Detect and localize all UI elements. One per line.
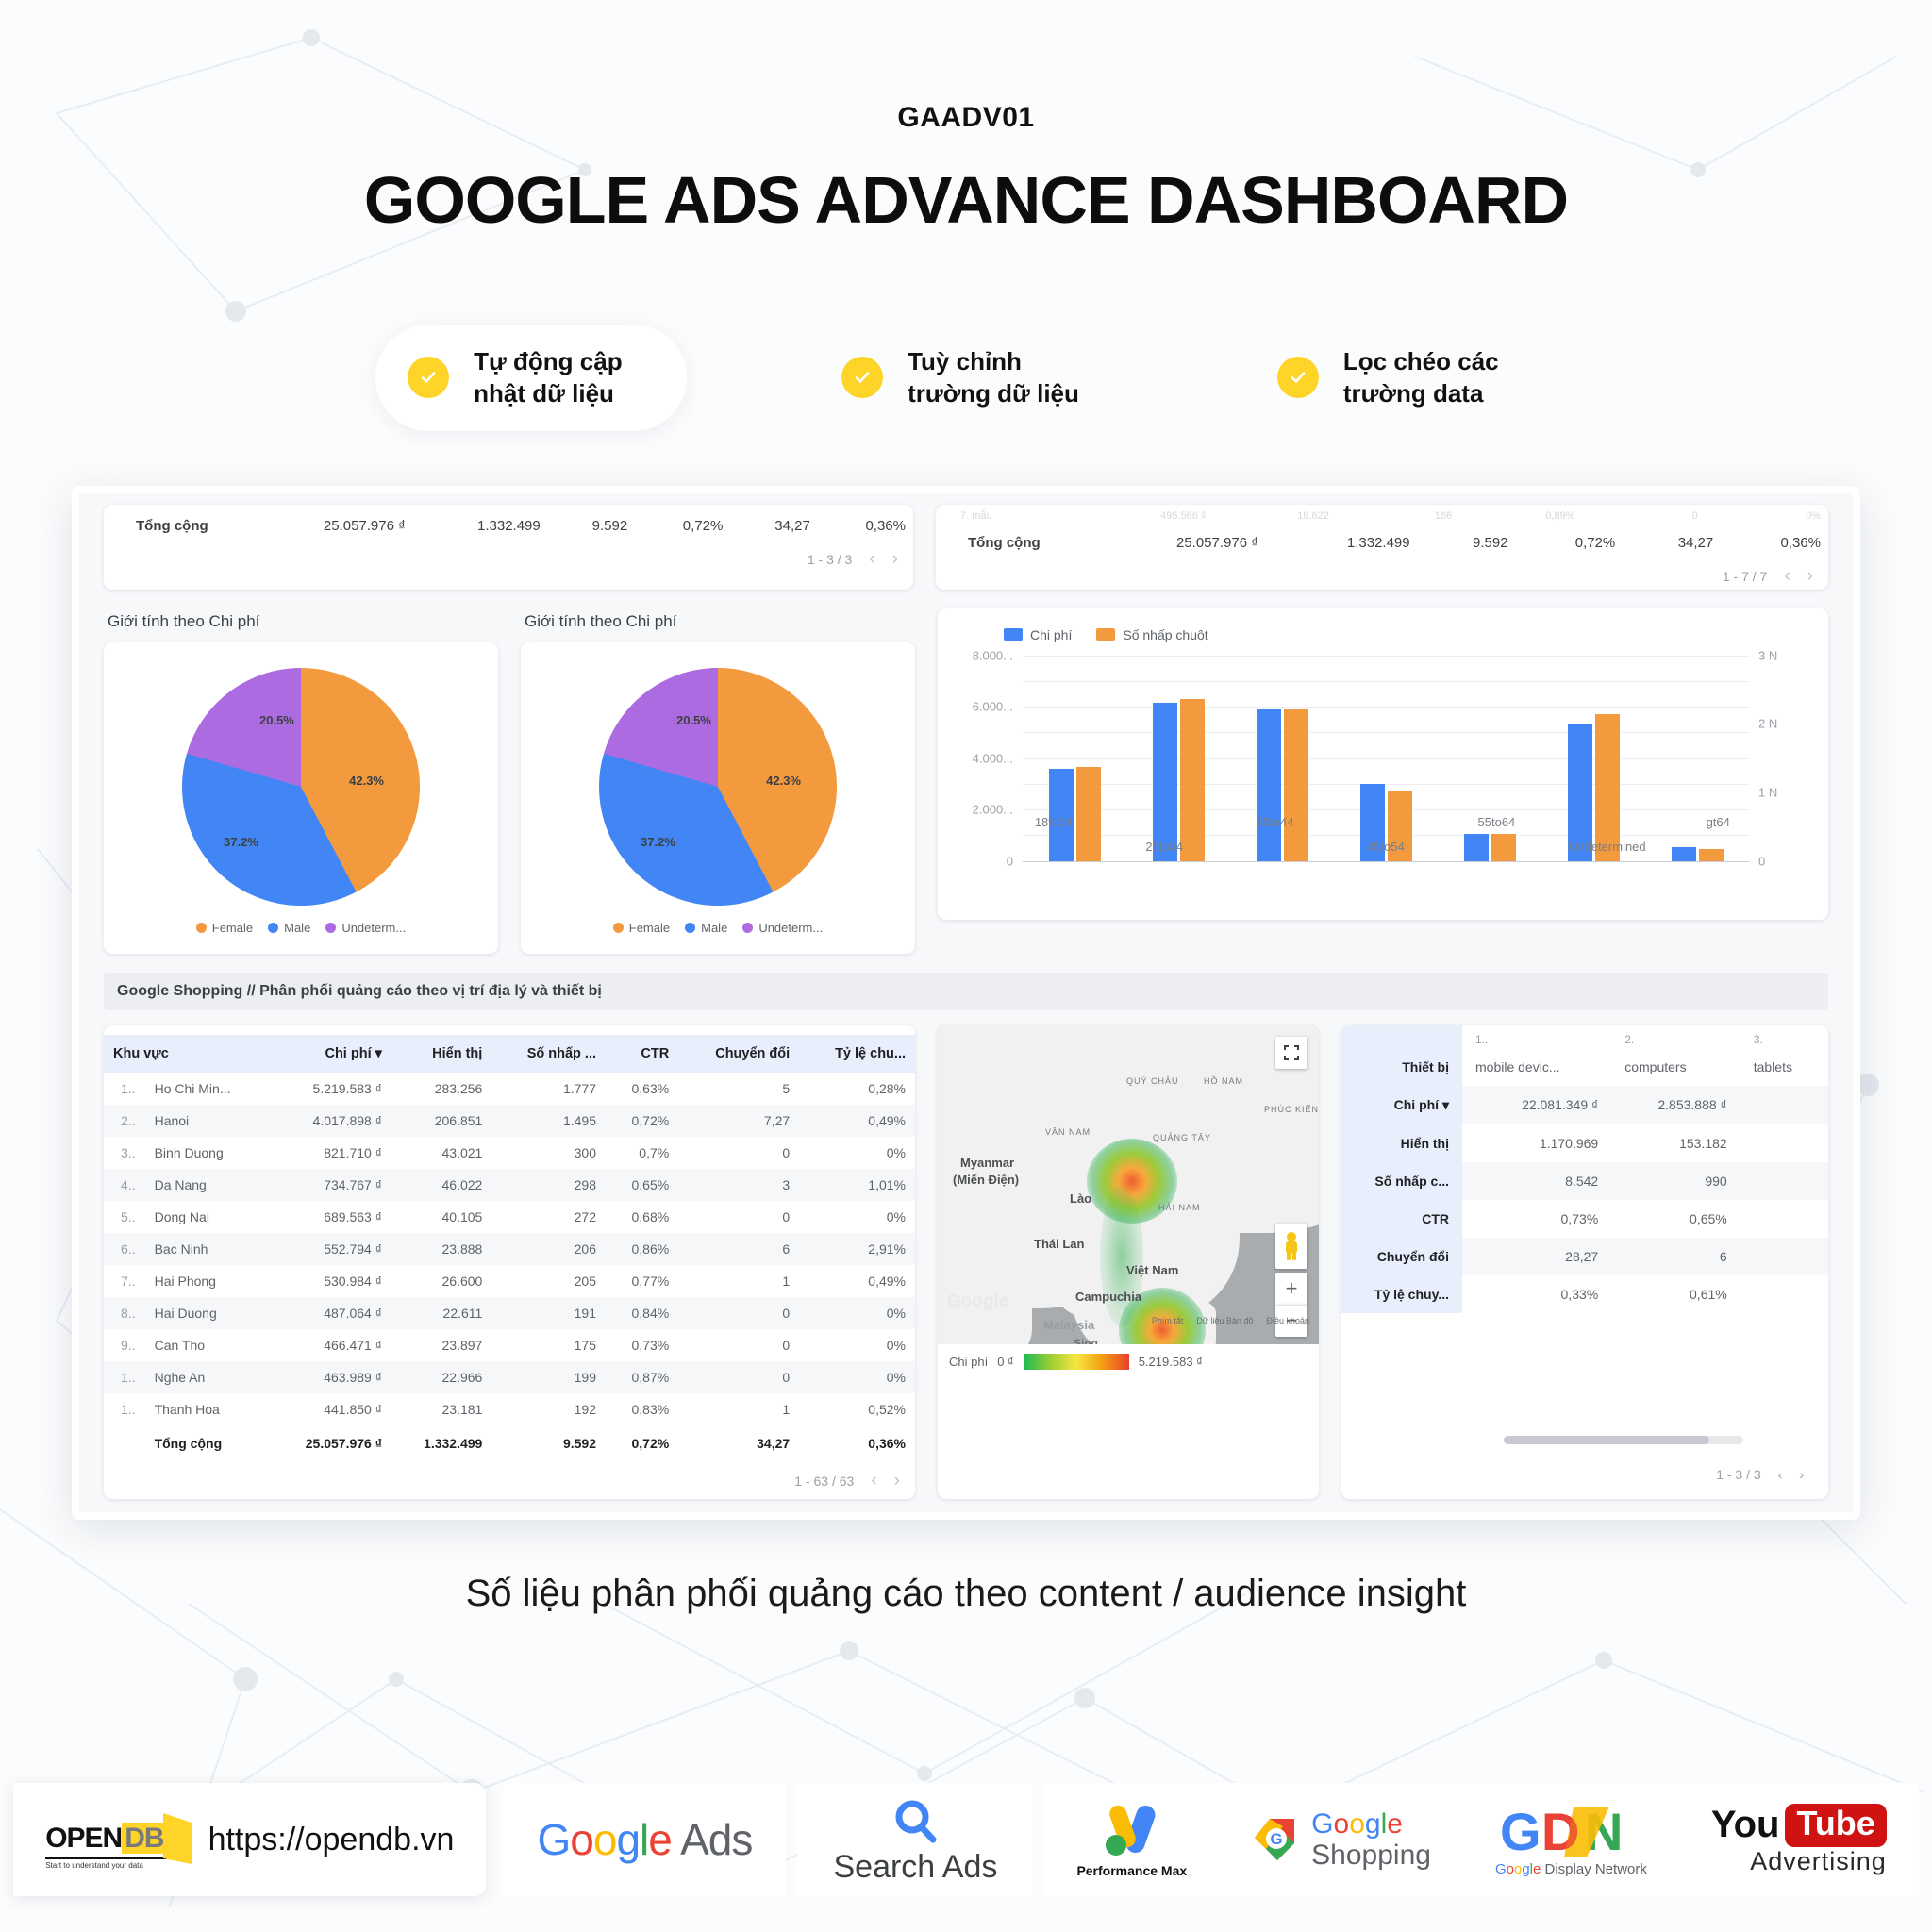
table-row[interactable]: 9..Can Tho466.471 ₫23.8971750,73%00% (104, 1329, 915, 1361)
col-number-2: 2. (1611, 1025, 1740, 1048)
cell-clicks: 298 (491, 1169, 606, 1201)
cell-ctr: 0,84% (606, 1297, 678, 1329)
cell-ctr: 0,63% (606, 1073, 678, 1105)
ghost-cell: 7. mẫu (960, 510, 1083, 522)
row-index: 1.. (104, 1073, 145, 1105)
table-total-row: Tổng cộng 25.057.976 ₫ 1.332.499 9.592 0… (104, 1425, 915, 1459)
row-label-ctr[interactable]: CTR (1341, 1200, 1462, 1238)
search-ads-label: Search Ads (833, 1849, 997, 1886)
pagination-label: 1 - 7 / 7 (1723, 569, 1767, 584)
performance-max-icon (1099, 1801, 1165, 1859)
check-icon (1277, 357, 1319, 398)
cell-region: Da Nang (145, 1169, 269, 1201)
row-label-conversions[interactable]: Chuyển đổi (1341, 1238, 1462, 1275)
cell-clicks: 1.495 (491, 1105, 606, 1137)
cell-region: Dong Nai (145, 1201, 269, 1233)
prev-page-icon[interactable]: ‹ (869, 549, 874, 570)
page-header: GAADV01 GOOGLE ADS ADVANCE DASHBOARD (0, 0, 1932, 238)
logo-google-shopping[interactable]: G Google Shopping (1219, 1783, 1463, 1896)
cell-ctr: 0,72% (606, 1105, 678, 1137)
pagination-left[interactable]: 1 - 3 / 3 ‹ › (104, 547, 913, 577)
cell-impressions-tablets (1740, 1124, 1828, 1162)
map-link-shortcuts[interactable]: Phím tắt (1152, 1316, 1184, 1325)
legend-item-clicks[interactable]: Số nhấp chuột (1096, 627, 1207, 642)
cell-impressions-computers: 153.182 (1611, 1124, 1740, 1162)
cell-conv-rate-computers: 0,61% (1611, 1275, 1740, 1313)
horizontal-scrollbar[interactable] (1504, 1436, 1743, 1444)
col-header-cost[interactable]: Chi phí ▾ (268, 1035, 391, 1073)
section-header-shopping: Google Shopping // Phân phối quảng cáo t… (104, 973, 1828, 1010)
ghost-cell: 495.566 ₫ (1083, 510, 1206, 522)
y-axis-left-tick: 4.000... (973, 751, 1013, 765)
pie-chart-2[interactable]: Giới tính theo Chi phí 42.3% 37.2% 20.5%… (521, 608, 915, 954)
legend-label: Undeterm... (758, 921, 823, 935)
total-impressions: 1.332.499 (413, 505, 548, 547)
next-page-icon[interactable]: › (1807, 566, 1813, 587)
row-index: 3.. (104, 1137, 145, 1169)
pie-chart-card[interactable]: 42.3% 37.2% 20.5% Female Male Undeterm..… (104, 642, 498, 954)
x-tick-35to44: 35to44 (1220, 815, 1330, 854)
cell-conv-rate: 2,91% (799, 1233, 915, 1265)
pie-chart-card[interactable]: 42.3% 37.2% 20.5% Female Male Undeterm..… (521, 642, 915, 954)
row-index: 7.. (104, 1265, 145, 1297)
prev-page-icon[interactable]: ‹ (1784, 566, 1790, 587)
dashboard-canvas[interactable]: Tổng cộng 25.057.976 ₫ 1.332.499 9.592 0… (79, 493, 1853, 1512)
row-index: 6.. (104, 1233, 145, 1265)
cell-impressions: 23.888 (391, 1233, 491, 1265)
cell-cost: 530.984 ₫ (268, 1265, 391, 1297)
legend-swatch-female (613, 923, 624, 933)
y-axis-right-tick: 2 N (1758, 717, 1777, 731)
ghost-cell: 0,89% (1452, 510, 1574, 522)
map-label-fujian: PHÚC KIẾN (1264, 1105, 1319, 1114)
badge-label: Tuỳ chỉnh trường dữ liệu (908, 345, 1079, 410)
table-row[interactable]: 2..Hanoi4.017.898 ₫206.8511.4950,72%7,27… (104, 1105, 915, 1137)
cell-cost: 552.794 ₫ (268, 1233, 391, 1265)
cell-impressions-mobile: 1.170.969 (1462, 1124, 1611, 1162)
badge-label: Lọc chéo các trường data (1343, 345, 1499, 410)
device-pagination[interactable]: 1 - 3 / 3 ‹ › (1716, 1467, 1804, 1482)
row-index: 1.. (104, 1361, 145, 1393)
total-conv-rate: 0,36% (799, 1425, 915, 1459)
legend-item-female[interactable]: Female (196, 921, 253, 935)
cell-region: Can Tho (145, 1329, 269, 1361)
legend-swatch-female (196, 923, 207, 933)
total-ctr: 0,72% (606, 1425, 678, 1459)
map-label-hunan: HỒ NAM (1204, 1076, 1243, 1086)
table-row[interactable]: Thiết bị mobile devic... computers table… (1341, 1048, 1828, 1086)
geo-table-body: 1..Ho Chi Min...5.219.583 ₫283.2561.7770… (104, 1073, 915, 1459)
map-label-thailand: Thái Lan (1034, 1237, 1084, 1251)
legend-label: Số nhấp chuột (1123, 627, 1207, 642)
cell-conversions: 7,27 (678, 1105, 799, 1137)
cell-cost-mobile: 22.081.349 ₫ (1462, 1086, 1611, 1124)
cell-device-mobile: mobile devic... (1462, 1048, 1611, 1086)
opendb-tagline: Start to understand your data (45, 1861, 166, 1870)
map-color-legend: Chi phí 0 ₫ 5.219.583 ₫ (938, 1344, 1319, 1379)
cell-ctr: 0,65% (606, 1169, 678, 1201)
cell-conv-rate: 0,49% (799, 1105, 915, 1137)
cell-conversions: 1 (678, 1393, 799, 1425)
col-header-impressions[interactable]: Hiển thị (391, 1035, 491, 1073)
total-conv-rate: 0,36% (1721, 522, 1828, 564)
pie-legend: Female Male Undeterm... (196, 921, 406, 935)
google-watermark: Google (947, 1291, 1008, 1312)
pagination-label: 1 - 3 / 3 (808, 552, 852, 567)
y-axis-right-tick: 1 N (1758, 785, 1777, 799)
charts-row: Giới tính theo Chi phí 42.3% 37.2% 20.5%… (104, 608, 1828, 954)
row-index: 1.. (104, 1393, 145, 1425)
col-number-3: 3. (1740, 1025, 1828, 1048)
youtube-tube-text: Tube (1785, 1804, 1886, 1847)
opendb-url[interactable]: https://opendb.vn (208, 1822, 455, 1858)
legend-swatch-male (268, 923, 278, 933)
total-label: Tổng cộng (104, 505, 245, 547)
svg-text:G: G (1271, 1830, 1283, 1848)
cell-ctr: 0,87% (606, 1361, 678, 1393)
table-row[interactable]: 4..Da Nang734.767 ₫46.0222980,65%31,01% (104, 1169, 915, 1201)
legend-item-undetermined[interactable]: Undeterm... (742, 921, 823, 935)
table-row[interactable]: Số nhấp c... 8.542 990 (1341, 1162, 1828, 1200)
map-label-myanmar: Myanmar (960, 1156, 1014, 1170)
cell-clicks: 1.777 (491, 1073, 606, 1105)
cell-impressions: 23.181 (391, 1393, 491, 1425)
geo-table-card[interactable]: Khu vực Chi phí ▾ Hiển thị Số nhấp ... C… (104, 1025, 915, 1499)
fullscreen-icon[interactable] (1275, 1037, 1307, 1069)
cell-cost: 5.219.583 ₫ (268, 1073, 391, 1105)
cell-conversions-computers: 6 (1611, 1238, 1740, 1275)
cell-conv-rate: 0% (799, 1329, 915, 1361)
cell-conv-rate: 0% (799, 1361, 915, 1393)
cell-region: Bac Ninh (145, 1233, 269, 1265)
cell-clicks-tablets (1740, 1162, 1828, 1200)
total-conversions: 34,27 (1623, 522, 1721, 564)
device-table-card[interactable]: 1.. 2. 3. Thiết bị mobile devic... compu… (1341, 1025, 1828, 1499)
map-viewport[interactable]: Myanmar (Miến Điện) Lào Thái Lan Việt Na… (938, 1025, 1319, 1344)
feature-badges: Tự động cập nhật dữ liệu Tuỳ chỉnh trườn… (0, 325, 1932, 431)
legend-item-female[interactable]: Female (613, 921, 670, 935)
prev-page-icon[interactable]: ‹ (871, 1471, 876, 1491)
col-header-conv-rate[interactable]: Tỷ lệ chu... (799, 1035, 915, 1073)
col-header-ctr[interactable]: CTR (606, 1035, 678, 1073)
table-row[interactable]: 1..Thanh Hoa441.850 ₫23.1811920,83%10,52… (104, 1393, 915, 1425)
table-row[interactable]: Hiển thị 1.170.969 153.182 (1341, 1124, 1828, 1162)
google-shopping-tag-icon: G (1251, 1814, 1302, 1865)
heatmap-coast (1100, 1186, 1143, 1327)
x-axis-labels: 18to24 25to34 35to44 45to54 55to64 Undet… (998, 815, 1774, 854)
col-header-conversions[interactable]: Chuyển đổi (678, 1035, 799, 1073)
google-shopping-word-shopping: Shopping (1311, 1840, 1431, 1871)
legend-label: Male (701, 921, 727, 935)
cell-ctr-tablets (1740, 1200, 1828, 1238)
cell-impressions: 22.611 (391, 1297, 491, 1329)
pie-slice-label-undetermined: 20.5% (676, 713, 711, 727)
pagination-label: 1 - 3 / 3 (1716, 1467, 1760, 1482)
geo-table: Khu vực Chi phí ▾ Hiển thị Số nhấp ... C… (104, 1035, 915, 1459)
cell-conv-rate: 0% (799, 1137, 915, 1169)
search-icon (888, 1794, 942, 1849)
logo-gdn[interactable]: G D N D Google Display Network (1463, 1783, 1679, 1896)
cell-clicks: 205 (491, 1265, 606, 1297)
legend-item-male[interactable]: Male (685, 921, 727, 935)
cell-conv-rate: 1,01% (799, 1169, 915, 1201)
legend-swatch-clicks (1096, 628, 1115, 641)
pagination-label: 1 - 63 / 63 (794, 1474, 854, 1489)
map-label-guizhou: QUÝ CHÂU (1126, 1076, 1179, 1086)
summary-table-left: Tổng cộng 25.057.976 ₫ 1.332.499 9.592 0… (104, 505, 913, 547)
cell-cost: 466.471 ₫ (268, 1329, 391, 1361)
gdn-sub-display-network: Display Network (1545, 1861, 1647, 1877)
gdn-icon: G D N D (1500, 1803, 1641, 1861)
gdn-sub-google: Google (1495, 1861, 1541, 1877)
cell-conv-rate: 0,52% (799, 1393, 915, 1425)
table-row[interactable]: 6..Bac Ninh552.794 ₫23.8882060,86%62,91% (104, 1233, 915, 1265)
table-row[interactable]: 5..Dong Nai689.563 ₫40.1052720,68%00% (104, 1201, 915, 1233)
total-clicks: 9.592 (1418, 522, 1516, 564)
map-label-myanmar-alt: (Miến Điện) (953, 1173, 1019, 1187)
google-ads-wordmark: Google Ads (537, 1814, 752, 1865)
map-label-laos: Lào (1070, 1191, 1091, 1206)
row-label-clicks[interactable]: Số nhấp c... (1341, 1162, 1462, 1200)
summary-card-left[interactable]: Tổng cộng 25.057.976 ₫ 1.332.499 9.592 0… (104, 505, 913, 590)
cell-conv-rate: 0% (799, 1201, 915, 1233)
map-label-guangxi: QUẢNG TÂY (1153, 1133, 1211, 1142)
table-row[interactable]: 7..Hai Phong530.984 ₫26.6002050,77%10,49… (104, 1265, 915, 1297)
table-row[interactable]: 3..Binh Duong821.710 ₫43.0213000,7%00% (104, 1137, 915, 1169)
map-footer-links: Phím tắt Dữ liệu Bản đồ Điều khoản (938, 1316, 1319, 1325)
logo-google-ads[interactable]: Google Ads (503, 1783, 786, 1896)
next-page-icon[interactable]: › (1799, 1467, 1804, 1482)
cell-cost-tablets (1740, 1086, 1828, 1124)
x-tick-55to64: 55to64 (1441, 815, 1552, 854)
legend-item-cost[interactable]: Chi phí (1004, 627, 1072, 642)
logo-performance-max[interactable]: Performance Max (1044, 1783, 1219, 1896)
cell-clicks: 206 (491, 1233, 606, 1265)
table-row[interactable]: 1..Nghe An463.989 ₫22.9661990,87%00% (104, 1361, 915, 1393)
x-tick-45to54: 45to54 (1330, 815, 1441, 854)
total-ctr: 0,72% (1516, 522, 1624, 564)
cell-impressions: 43.021 (391, 1137, 491, 1169)
cell-impressions: 26.600 (391, 1265, 491, 1297)
cell-conversions: 0 (678, 1297, 799, 1329)
cell-conv-rate-tablets (1740, 1275, 1828, 1313)
geo-heatmap-card[interactable]: Myanmar (Miến Điện) Lào Thái Lan Việt Na… (938, 1025, 1319, 1499)
footer-caption: Số liệu phân phối quảng cáo theo content… (0, 1573, 1932, 1615)
map-link-mapdata[interactable]: Dữ liệu Bản đồ (1196, 1316, 1253, 1325)
dashboard-code: GAADV01 (0, 102, 1932, 134)
cell-conversions: 3 (678, 1169, 799, 1201)
table-row[interactable]: 8..Hai Duong487.064 ₫22.6111910,84%00% (104, 1297, 915, 1329)
table-row[interactable]: 1..Ho Chi Min...5.219.583 ₫283.2561.7770… (104, 1073, 915, 1105)
scrollbar-thumb[interactable] (1504, 1436, 1709, 1444)
row-label-conv-rate[interactable]: Tỷ lệ chuy... (1341, 1275, 1462, 1313)
cell-cost: 463.989 ₫ (268, 1361, 391, 1393)
partner-logo-bar: OPENDB Start to understand your data htt… (0, 1783, 1932, 1896)
x-tick-undetermined: Undetermined (1552, 815, 1662, 854)
total-ctr: 0,72% (635, 505, 730, 547)
row-index: 5.. (104, 1201, 145, 1233)
pie-chart-1[interactable]: Giới tính theo Chi phí 42.3% 37.2% 20.5%… (104, 608, 498, 954)
pie-slice-label-female: 42.3% (766, 774, 801, 788)
badge-custom-fields: Tuỳ chỉnh trường dữ liệu (809, 325, 1123, 431)
legend-item-undetermined[interactable]: Undeterm... (325, 921, 406, 935)
cell-conversions: 1 (678, 1265, 799, 1297)
total-label: Tổng cộng (936, 522, 1077, 564)
next-page-icon[interactable]: › (894, 1471, 900, 1491)
legend-max-value: 5.219.583 ₫ (1139, 1355, 1203, 1369)
row-index: 2.. (104, 1105, 145, 1137)
col-header-region[interactable]: Khu vực (104, 1035, 268, 1073)
ghost-cell: 0 (1574, 510, 1697, 522)
opendb-open-text: OPEN (45, 1823, 122, 1854)
logo-search-ads[interactable]: Search Ads (797, 1783, 1033, 1896)
legend-swatch-male (685, 923, 695, 933)
pie-chart-title: Giới tính theo Chi phí (521, 608, 915, 642)
map-label-singapore: Sing (1074, 1337, 1098, 1344)
logo-opendb[interactable]: OPENDB Start to understand your data htt… (13, 1783, 486, 1896)
cell-ctr-mobile: 0,73% (1462, 1200, 1611, 1238)
pie-slice-label-male: 37.2% (224, 835, 258, 849)
legend-label: Male (284, 921, 310, 935)
cell-conversions: 0 (678, 1201, 799, 1233)
badge-line-2: trường data (1343, 377, 1499, 409)
table-row[interactable]: Chi phí ▾ 22.081.349 ₫ 2.853.888 ₫ (1341, 1086, 1828, 1124)
cell-ctr: 0,77% (606, 1265, 678, 1297)
x-tick-gt64: gt64 (1663, 815, 1774, 854)
cell-region: Hanoi (145, 1105, 269, 1137)
pie-slice-label-female: 42.3% (349, 774, 384, 788)
svg-text:D: D (1541, 1803, 1579, 1861)
map-label-hainan: HẢI NAM (1158, 1203, 1201, 1212)
summary-table-right: Tổng cộng 25.057.976 ₫ 1.332.499 9.592 0… (936, 522, 1828, 564)
cell-clicks: 300 (491, 1137, 606, 1169)
y-axis-right-tick: 3 N (1758, 648, 1777, 662)
table-row: Tổng cộng 25.057.976 ₫ 1.332.499 9.592 0… (936, 522, 1828, 564)
x-tick-25to34: 25to34 (1108, 815, 1219, 854)
x-tick-18to24: 18to24 (998, 815, 1108, 854)
legend-label: Chi phí (1030, 627, 1072, 642)
logo-youtube-advertising[interactable]: You Tube Advertising (1679, 1783, 1919, 1896)
legend-metric-label: Chi phí (949, 1355, 988, 1369)
map-label-vietnam: Việt Nam (1126, 1263, 1178, 1277)
total-label: Tổng cộng (145, 1425, 269, 1459)
ghost-cell: 18.622 (1207, 510, 1329, 522)
pagination-right[interactable]: 1 - 7 / 7 ‹ › (936, 564, 1828, 590)
total-cost: 25.057.976 ₫ (268, 1425, 391, 1459)
legend-gradient-bar (1024, 1354, 1129, 1370)
badge-line-1: Tự động cập (474, 345, 623, 377)
youtube-advertising-label: Advertising (1750, 1847, 1887, 1876)
table-header-row: 1.. 2. 3. (1341, 1025, 1828, 1048)
cell-conversions-tablets (1740, 1238, 1828, 1275)
partial-row-above: 7. mẫu 495.566 ₫ 18.622 166 0,89% 0 0% (936, 505, 1828, 522)
next-page-icon[interactable]: › (892, 549, 898, 570)
legend-label: Undeterm... (341, 921, 406, 935)
badge-line-1: Tuỳ chỉnh (908, 345, 1079, 377)
cell-conversions-mobile: 28,27 (1462, 1238, 1611, 1275)
summary-card-right[interactable]: 7. mẫu 495.566 ₫ 18.622 166 0,89% 0 0% T… (936, 505, 1828, 590)
col-number-1: 1.. (1462, 1025, 1611, 1048)
legend-min-value: 0 ₫ (997, 1355, 1014, 1369)
opendb-door-icon (163, 1809, 195, 1870)
total-cost: 25.057.976 ₫ (1077, 522, 1266, 564)
cell-region: Binh Duong (145, 1137, 269, 1169)
cell-impressions: 22.966 (391, 1361, 491, 1393)
page-title: GOOGLE ADS ADVANCE DASHBOARD (0, 162, 1932, 238)
cell-region: Ho Chi Min... (145, 1073, 269, 1105)
table-row: Tổng cộng 25.057.976 ₫ 1.332.499 9.592 0… (104, 505, 913, 547)
cell-ctr: 0,86% (606, 1233, 678, 1265)
cell-clicks: 199 (491, 1361, 606, 1393)
google-shopping-word-google: Google (1311, 1808, 1431, 1840)
gdn-subtitle: Google Display Network (1495, 1861, 1647, 1877)
badge-auto-update: Tự động cập nhật dữ liệu (375, 325, 687, 431)
cell-impressions: 40.105 (391, 1201, 491, 1233)
opendb-db-text: DB (122, 1823, 166, 1854)
legend-swatch-undetermined (325, 923, 336, 933)
row-label-impressions[interactable]: Hiển thị (1341, 1124, 1462, 1162)
map-link-terms[interactable]: Điều khoản (1266, 1316, 1309, 1325)
legend-swatch-undetermined (742, 923, 753, 933)
table-row[interactable]: Tỷ lệ chuy... 0,33% 0,61% (1341, 1275, 1828, 1313)
total-conv-rate: 0,36% (818, 505, 913, 547)
cell-cost: 689.563 ₫ (268, 1201, 391, 1233)
cell-conv-rate: 0,28% (799, 1073, 915, 1105)
ghost-cell: 0% (1698, 510, 1821, 522)
col-header-clicks[interactable]: Số nhấp ... (491, 1035, 606, 1073)
cell-conv-rate: 0% (799, 1297, 915, 1329)
legend-label: Female (212, 921, 253, 935)
ghost-cell: 166 (1329, 510, 1452, 522)
cell-region: Nghe An (145, 1361, 269, 1393)
total-clicks: 9.592 (548, 505, 635, 547)
row-label-device[interactable]: Thiết bị (1341, 1048, 1462, 1086)
cell-impressions: 283.256 (391, 1073, 491, 1105)
bar-chart-age[interactable]: Chi phí Số nhấp chuột 8.000... 6.000... … (938, 608, 1828, 920)
total-conversions: 34,27 (730, 505, 817, 547)
cell-region: Hai Phong (145, 1265, 269, 1297)
y-axis-left-tick: 6.000... (973, 700, 1013, 714)
geo-pagination[interactable]: 1 - 63 / 63 ‹ › (104, 1459, 915, 1499)
total-conversions: 34,27 (678, 1425, 799, 1459)
legend-label: Female (629, 921, 670, 935)
cell-clicks: 175 (491, 1329, 606, 1361)
cell-conv-rate: 0,49% (799, 1265, 915, 1297)
badge-line-1: Lọc chéo các (1343, 345, 1499, 377)
table-row[interactable]: Chuyển đổi 28,27 6 (1341, 1238, 1828, 1275)
cell-cost: 734.767 ₫ (268, 1169, 391, 1201)
pegman-icon[interactable] (1275, 1224, 1307, 1269)
prev-page-icon[interactable]: ‹ (1778, 1467, 1783, 1482)
cell-impressions: 206.851 (391, 1105, 491, 1137)
row-index: 8.. (104, 1297, 145, 1329)
table-row[interactable]: CTR 0,73% 0,65% (1341, 1200, 1828, 1238)
row-label-cost[interactable]: Chi phí ▾ (1341, 1086, 1462, 1124)
map-label-cambodia: Campuchia (1075, 1290, 1141, 1304)
badge-line-2: trường dữ liệu (908, 377, 1079, 409)
performance-max-label: Performance Max (1076, 1863, 1187, 1878)
svg-text:G: G (1500, 1803, 1541, 1861)
pie-legend: Female Male Undeterm... (613, 921, 823, 935)
zoom-in-icon[interactable]: + (1275, 1273, 1307, 1305)
cell-ctr: 0,73% (606, 1329, 678, 1361)
y-axis-left-tick: 8.000... (973, 648, 1013, 662)
cell-conversions: 0 (678, 1137, 799, 1169)
y-axis-right-tick: 0 (1758, 854, 1765, 868)
cell-ctr: 0,68% (606, 1201, 678, 1233)
legend-item-male[interactable]: Male (268, 921, 310, 935)
check-icon (408, 357, 449, 398)
